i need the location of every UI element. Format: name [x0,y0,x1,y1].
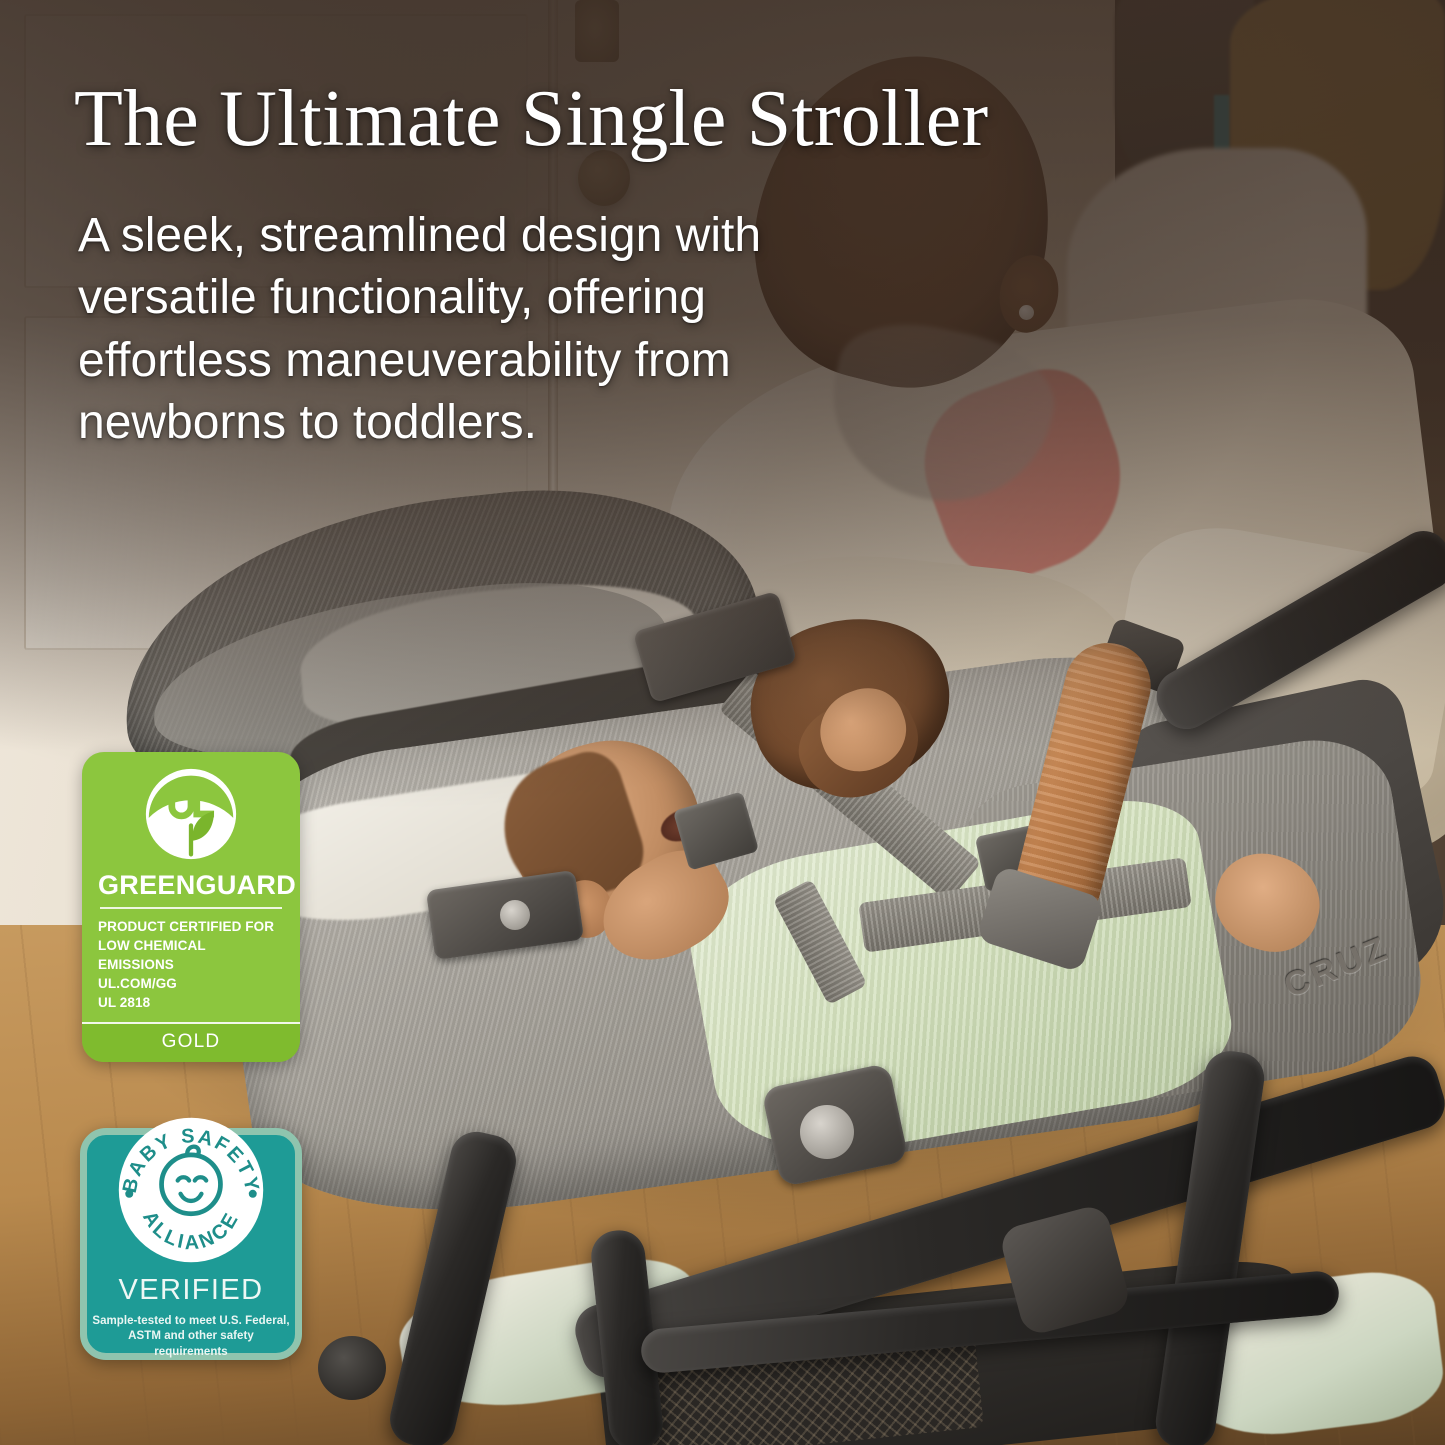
bsa-fine-line: Sample-tested to meet U.S. Federal, [90,1314,292,1329]
greenguard-level: GOLD [82,1022,300,1062]
door-deadbolt [575,0,619,62]
greenguard-cert-line: PRODUCT CERTIFIED FOR [98,918,284,937]
greenguard-cert-line: UL 2818 [98,994,284,1013]
greenguard-cert-line: UL.COM/GG [98,975,284,994]
subcopy: A sleek, streamlined design with versati… [78,205,868,455]
greenguard-body: GREENGUARD PRODUCT CERTIFIED FOR LOW CHE… [82,752,300,1022]
ul-greenguard-icon [143,766,239,862]
ul-logo-wrap [98,766,284,862]
hinge-pivot [500,900,530,930]
greenguard-cert-line: LOW CHEMICAL EMISSIONS [98,937,284,975]
subcopy-line: versatile functionality, offering [78,267,868,329]
greenguard-title: GREENGUARD [98,870,284,901]
greenguard-cert-text: PRODUCT CERTIFIED FOR LOW CHEMICAL EMISS… [98,918,284,1012]
baby-safety-seal-icon: BABY SAFETY ALLIANCE [115,1114,267,1266]
subcopy-line: effortless maneuverability from [78,330,868,392]
product-marketing-image: CRUZ The Ultimate Single Stroller A slee… [0,0,1445,1445]
baby-safety-alliance-badge: BABY SAFETY ALLIANCE VERIFIED Sample-tes… [80,1128,302,1360]
subcopy-line: A sleek, streamlined design with [78,205,868,267]
bsa-status: VERIFIED [80,1274,302,1307]
recline-pivot [800,1105,854,1159]
wheel-cap [318,1336,386,1400]
bsa-fine-print: Sample-tested to meet U.S. Federal, ASTM… [90,1314,292,1360]
subcopy-line: newborns to toddlers. [78,392,868,454]
greenguard-divider [100,907,282,909]
bsa-fine-line: ASTM and other safety requirements [90,1329,292,1360]
headline: The Ultimate Single Stroller [74,78,1204,161]
greenguard-badge: GREENGUARD PRODUCT CERTIFIED FOR LOW CHE… [82,752,300,1062]
father-earring [1019,305,1034,320]
